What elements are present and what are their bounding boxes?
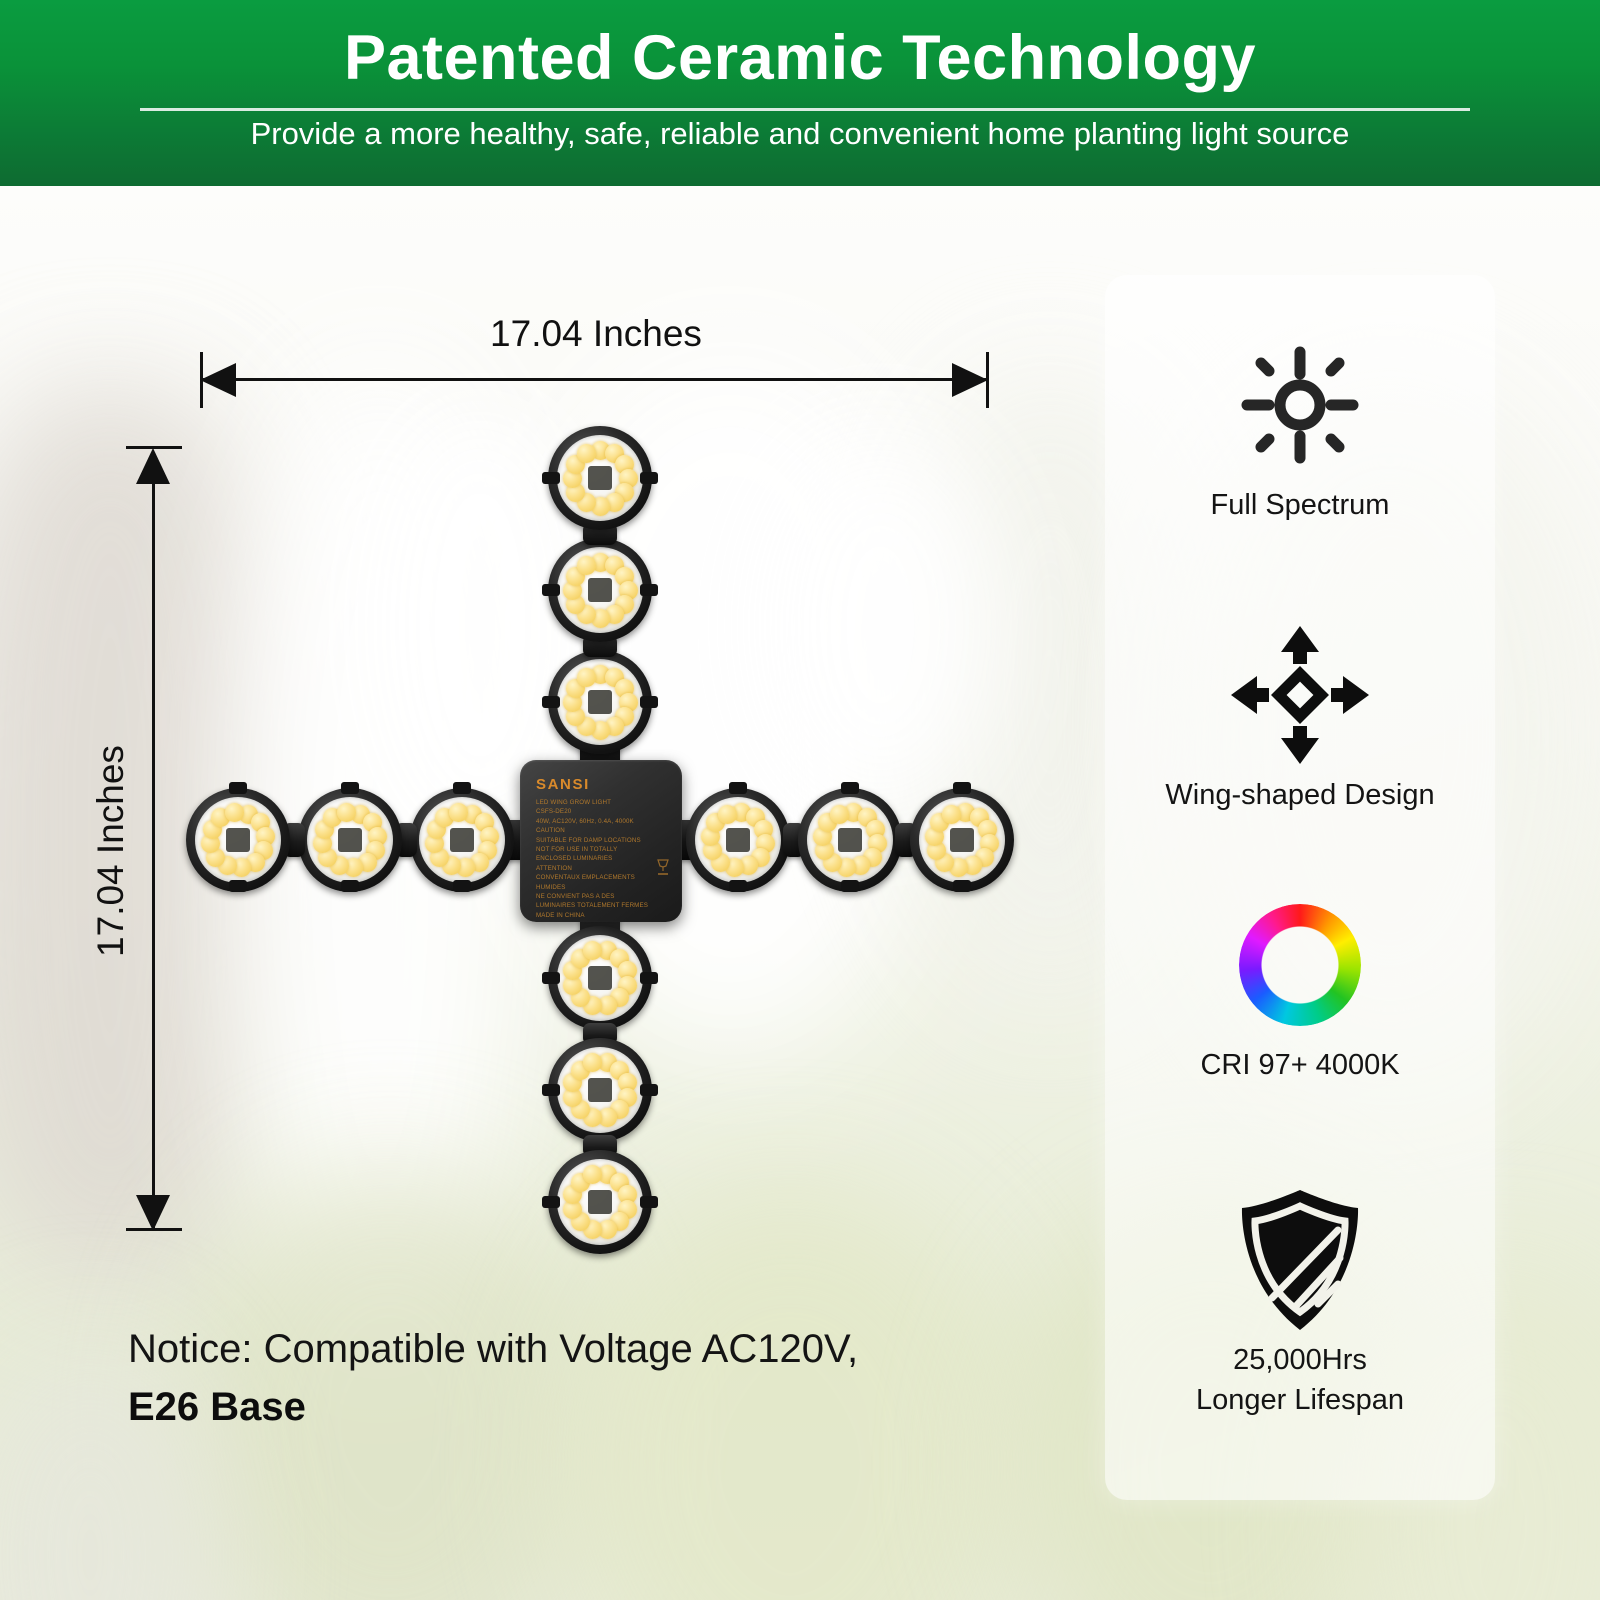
feature-label: Wing-shaped Design [1105, 775, 1495, 815]
product-spec-line: CONVENTAUX EMPLACEMENTS [536, 873, 668, 882]
feature-label: Full Spectrum [1105, 485, 1495, 525]
led-head [798, 788, 902, 892]
product-spec-line: CSFS-DE20 [536, 807, 668, 816]
product-spec-line: ATTENTION [536, 864, 668, 873]
head-clamp [841, 880, 859, 892]
header-divider [140, 108, 1470, 111]
arrow-up-icon [136, 448, 170, 484]
page-subtitle: Provide a more healthy, safe, reliable a… [0, 116, 1600, 152]
led-head [910, 788, 1014, 892]
head-clamp [453, 880, 471, 892]
notice-line-2: E26 Base [128, 1378, 1048, 1436]
product-spec-line: NOT FOR USE IN TOTALLY [536, 845, 668, 854]
led-center-chip [226, 828, 250, 852]
led-head [548, 1150, 652, 1254]
led-head [686, 788, 790, 892]
led-head [548, 426, 652, 530]
head-clamp [542, 696, 560, 708]
led-head [548, 1038, 652, 1142]
head-clamp [542, 1196, 560, 1208]
led-center-chip [588, 1078, 612, 1102]
head-clamp [640, 472, 658, 484]
led-diode [942, 805, 961, 824]
led-center-chip [588, 466, 612, 490]
led-diode [577, 556, 596, 575]
dimension-line-horizontal [203, 378, 987, 381]
arrow-right-icon [952, 363, 988, 397]
led-head [298, 788, 402, 892]
product-spec-line: LED WING GROW LIGHT [536, 798, 668, 807]
product-spec-line: CAUTION [536, 826, 668, 835]
product-spec-line: SUITABLE FOR DAMP LOCATIONS [536, 836, 668, 845]
feature-cri-color: CRI 97+ 4000K [1105, 895, 1495, 1085]
head-clamp [729, 782, 747, 794]
head-clamp [729, 880, 747, 892]
product-spec-text: LED WING GROW LIGHTCSFS-DE2040W, AC120V,… [536, 798, 668, 920]
features-card: Full Spectrum Wing-shaped Design [1105, 275, 1495, 1500]
head-clamp [453, 782, 471, 794]
width-dimension-label: 17.04 Inches [203, 313, 989, 355]
led-head [186, 788, 290, 892]
led-diode [830, 805, 849, 824]
notice-line-1: Notice: Compatible with Voltage AC120V, [128, 1320, 1048, 1378]
led-center-chip [588, 1190, 612, 1214]
head-clamp [640, 1196, 658, 1208]
led-center-chip [588, 966, 612, 990]
head-clamp [542, 584, 560, 596]
page-title: Patented Ceramic Technology [0, 22, 1600, 94]
led-diode [337, 803, 356, 822]
led-center-chip [450, 828, 474, 852]
led-center-chip [588, 578, 612, 602]
head-clamp [953, 782, 971, 794]
product-spec-line: 40W, AC120V, 60Hz, 0.4A, 4000K [536, 817, 668, 826]
head-clamp [542, 1084, 560, 1096]
led-diode [577, 668, 596, 687]
product-image: SANSI LED WING GROW LIGHTCSFS-DE2040W, A… [190, 430, 1010, 1250]
head-clamp [229, 880, 247, 892]
product-spec-line: MADE IN CHINA [536, 911, 668, 920]
product-spec-line: HUMIDES [536, 883, 668, 892]
feature-wing-shaped-design: Wing-shaped Design [1105, 625, 1495, 815]
led-head [548, 650, 652, 754]
led-center-chip [588, 690, 612, 714]
arrow-down-icon [136, 1195, 170, 1231]
head-clamp [640, 696, 658, 708]
head-clamp [640, 584, 658, 596]
head-clamp [640, 1084, 658, 1096]
feature-lifespan: 25,000Hrs Longer Lifespan [1105, 1190, 1495, 1420]
sun-icon [1105, 335, 1495, 475]
header-banner: Patented Ceramic Technology Provide a mo… [0, 0, 1600, 186]
led-center-chip [726, 828, 750, 852]
waste-bin-icon [656, 858, 670, 876]
arrow-left-icon [200, 363, 236, 397]
feature-full-spectrum: Full Spectrum [1105, 335, 1495, 525]
led-diode [577, 444, 596, 463]
led-diode [225, 803, 244, 822]
led-diode [718, 805, 737, 824]
head-clamp [341, 880, 359, 892]
dimension-line-vertical [152, 460, 155, 1230]
led-head [548, 926, 652, 1030]
head-clamp [953, 880, 971, 892]
product-spec-line: LUMINAIRES TOTALEMENT FERMES [536, 901, 668, 910]
feature-label-line2: Longer Lifespan [1105, 1380, 1495, 1420]
led-head [410, 788, 514, 892]
feature-label: CRI 97+ 4000K [1105, 1045, 1495, 1085]
head-clamp [542, 472, 560, 484]
notice-block: Notice: Compatible with Voltage AC120V, … [128, 1320, 1048, 1436]
infographic-page: Patented Ceramic Technology Provide a mo… [0, 0, 1600, 1600]
led-center-chip [950, 828, 974, 852]
head-clamp [841, 782, 859, 794]
head-clamp [640, 972, 658, 984]
head-clamp [229, 782, 247, 794]
led-center-chip [338, 828, 362, 852]
brand-logo: SANSI [536, 776, 590, 793]
product-spec-line: ENCLOSED LUMINARIES [536, 854, 668, 863]
product-spec-line: NE CONVIENT PAS A DES [536, 892, 668, 901]
shield-icon [1105, 1190, 1495, 1330]
product-label-hub: SANSI LED WING GROW LIGHTCSFS-DE2040W, A… [520, 760, 682, 922]
height-dimension-label: 17.04 Inches [90, 466, 132, 1236]
color-wheel-icon [1105, 895, 1495, 1035]
head-clamp [542, 972, 560, 984]
led-center-chip [838, 828, 862, 852]
led-head [548, 538, 652, 642]
four-arrows-icon [1105, 625, 1495, 765]
led-diode [449, 803, 468, 822]
head-clamp [341, 782, 359, 794]
feature-label-line1: 25,000Hrs [1105, 1340, 1495, 1380]
